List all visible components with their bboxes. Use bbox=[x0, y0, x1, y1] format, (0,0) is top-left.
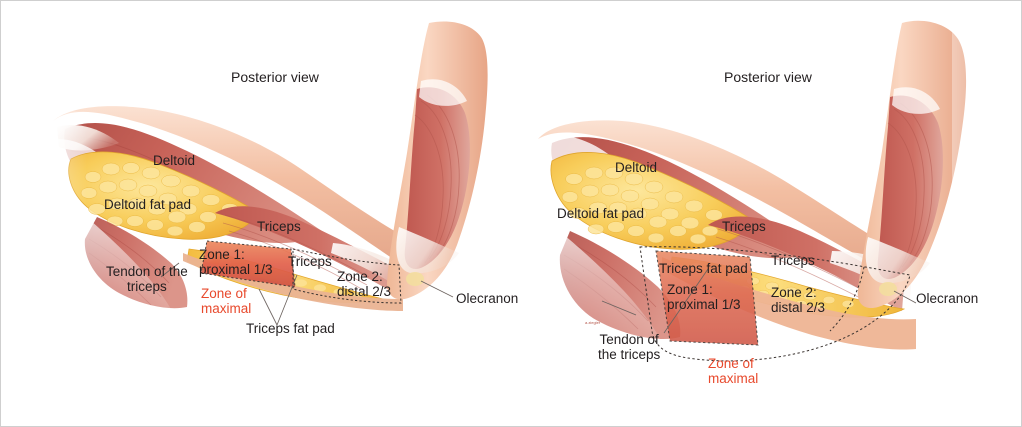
label-olecranon: Olecranon bbox=[456, 291, 518, 306]
olecranon-bone bbox=[406, 272, 424, 286]
label-deltoid: Deltoid bbox=[153, 153, 195, 168]
anatomy-illustration-page: Posterior view Deltoid Deltoid fat pad T… bbox=[0, 0, 1022, 427]
label-deltoid-fat-pad: Deltoid fat pad bbox=[557, 206, 644, 221]
figure-right-flexed-arm: Posterior view Deltoid Deltoid fat pad T… bbox=[512, 1, 1022, 427]
label-zone-1: Zone 1: proximal 1/3 bbox=[667, 282, 741, 312]
right-edge-fade bbox=[952, 11, 1022, 301]
label-triceps-upper: Triceps bbox=[257, 219, 301, 234]
left-edge-fade bbox=[37, 111, 87, 331]
figure-title: Posterior view bbox=[231, 69, 319, 85]
label-triceps-lower: Triceps bbox=[771, 253, 815, 268]
label-triceps-upper: Triceps bbox=[722, 219, 766, 234]
label-tendon-of-the-triceps: Tendon of the triceps bbox=[106, 264, 188, 294]
label-olecranon: Olecranon bbox=[916, 291, 978, 306]
label-zone-of-maximal: Zone of maximal bbox=[708, 356, 758, 386]
label-zone-1: Zone 1: proximal 1/3 bbox=[199, 247, 273, 277]
label-triceps-fat-pad: Triceps fat pad bbox=[659, 261, 748, 276]
label-tendon-of-the-triceps: Tendon of the triceps bbox=[598, 332, 660, 362]
left-arm-artwork bbox=[1, 1, 512, 427]
artist-signature: a.ziegler bbox=[585, 320, 600, 325]
label-deltoid-fat-pad: Deltoid fat pad bbox=[104, 197, 191, 212]
figure-title: Posterior view bbox=[724, 69, 812, 85]
figure-left-extended-arm: Posterior view Deltoid Deltoid fat pad T… bbox=[1, 1, 512, 427]
label-deltoid: Deltoid bbox=[615, 160, 657, 175]
label-zone-2: Zone 2: distal 2/3 bbox=[337, 269, 391, 299]
olecranon-bone bbox=[879, 282, 897, 296]
label-zone-of-maximal: Zone of maximal bbox=[201, 286, 251, 316]
label-triceps-fat-pad: Triceps fat pad bbox=[246, 321, 335, 336]
label-zone-2: Zone 2: distal 2/3 bbox=[771, 285, 825, 315]
label-triceps-lower: Triceps bbox=[288, 254, 332, 269]
